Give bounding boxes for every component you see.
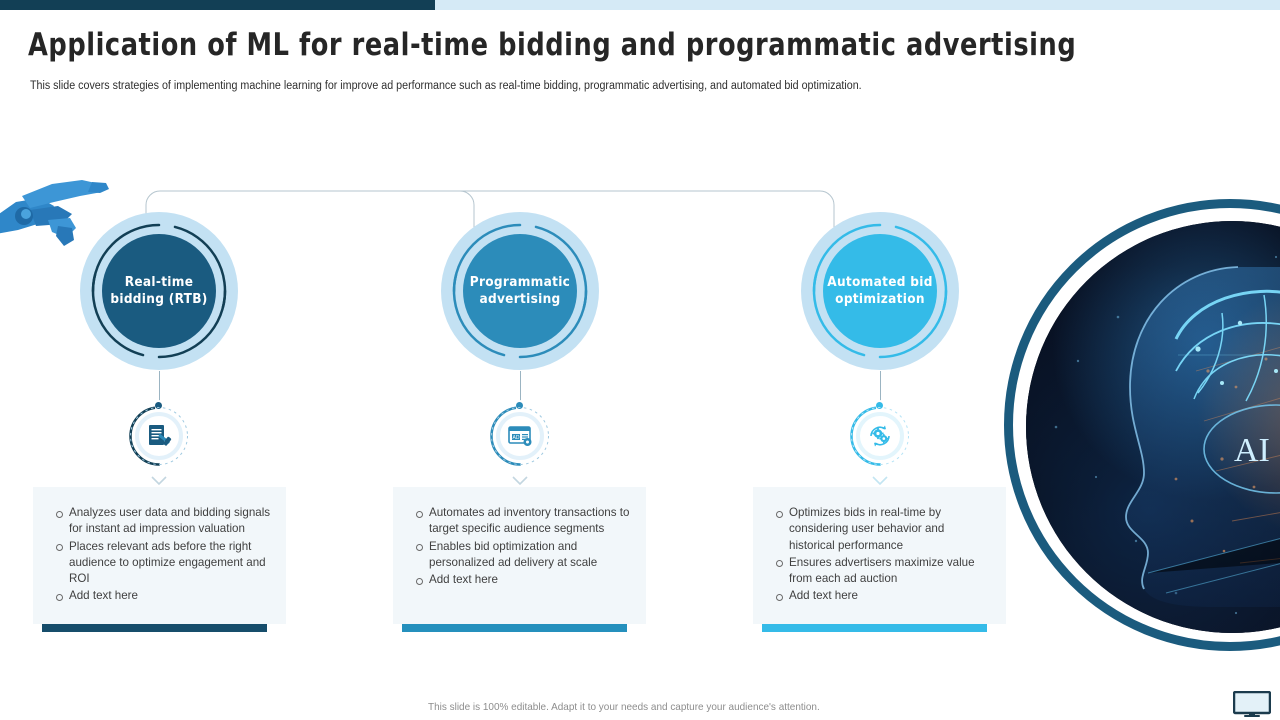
node-label: Real-time bidding (RTB) [110,274,207,308]
list-item: Enables bid optimization and personalize… [407,539,632,572]
chevron-down-icon [872,473,888,483]
bullet-list: Optimizes bids in real-time by consideri… [753,487,1006,605]
top-accent-bar-light [435,0,1280,10]
detail-card-programmatic-advertising: Automates ad inventory transactions to t… [393,487,646,624]
node-inner-circle: Automated bid optimization [823,234,937,348]
node-inner-circle: Programmatic advertising [463,234,577,348]
top-accent-bar-dark [0,0,435,10]
footer-note: This slide is 100% editable. Adapt it to… [428,701,820,713]
node-label: Programmatic advertising [470,274,570,308]
ai-brain-head-image: AI [1026,221,1280,633]
list-item: Add text here [47,588,272,604]
page-subtitle: This slide covers strategies of implemen… [30,80,862,92]
list-item: Places relevant ads before the right aud… [47,539,272,588]
card-accent-bar [402,624,627,632]
page-title: Application of ML for real-time bidding … [28,27,1076,63]
auction-gavel-document-icon [140,417,178,455]
ad-window-gear-icon: AD [501,417,539,455]
process-node-real-time-bidding[interactable]: Real-time bidding (RTB) [80,212,238,370]
bullet-list: Automates ad inventory transactions to t… [393,487,646,588]
card-accent-bar [762,624,987,632]
node-inner-circle: Real-time bidding (RTB) [102,234,216,348]
svg-text:AD: AD [513,435,520,441]
list-item: Add text here [767,588,992,604]
icon-node-automation[interactable] [849,405,911,467]
chevron-down-icon [512,473,528,483]
icon-node-auction[interactable] [128,405,190,467]
list-item: Automates ad inventory transactions to t… [407,505,632,538]
card-accent-bar [42,624,267,632]
detail-card-automated-bid-optimization: Optimizes bids in real-time by consideri… [753,487,1006,624]
monitor-icon[interactable] [1233,691,1271,717]
slide-canvas: Application of ML for real-time bidding … [0,0,1280,720]
chevron-down-icon [151,473,167,483]
ai-brain-image-frame: AI [1004,199,1280,651]
list-item: Optimizes bids in real-time by consideri… [767,505,992,554]
process-node-automated-bid-optimization[interactable]: Automated bid optimization [801,212,959,370]
list-item: Ensures advertisers maximize value from … [767,555,992,588]
top-accent-bar [0,0,1280,10]
detail-card-real-time-bidding: Analyzes user data and bidding signals f… [33,487,286,624]
list-item: Add text here [407,572,632,588]
icon-node-ad-window[interactable]: AD [489,405,551,467]
process-node-programmatic-advertising[interactable]: Programmatic advertising [441,212,599,370]
gears-automation-icon [861,417,899,455]
bullet-list: Analyzes user data and bidding signals f… [33,487,286,605]
list-item: Analyzes user data and bidding signals f… [47,505,272,538]
node-label: Automated bid optimization [827,274,932,308]
ai-overlay-text: AI [1234,432,1270,469]
